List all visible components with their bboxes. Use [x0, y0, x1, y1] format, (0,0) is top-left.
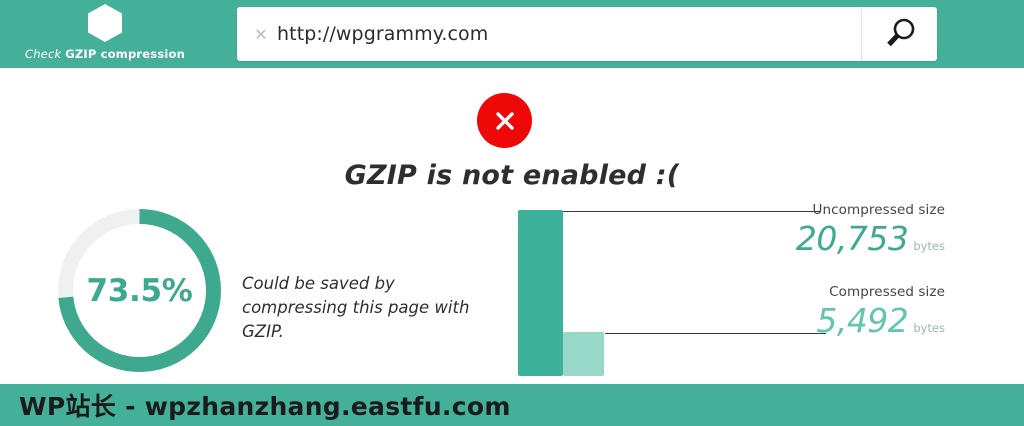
brand-logo[interactable]: Check GZIP compression: [0, 4, 210, 61]
stat-compressed-title: Compressed size: [640, 284, 945, 300]
stat-compressed-unit: bytes: [913, 321, 945, 335]
bar-uncompressed: [518, 210, 563, 376]
clear-x-icon[interactable]: ✕: [237, 7, 271, 61]
brand-tagline-main: GZIP compression: [65, 47, 185, 61]
watermark-text: WP站长 - wpzhanzhang.eastfu.com: [19, 387, 511, 423]
url-input[interactable]: [271, 7, 861, 61]
brand-tagline-prefix: Check: [25, 47, 65, 61]
stat-compressed: Compressed size 5,492 bytes: [640, 284, 945, 340]
magnifier-icon: [882, 16, 918, 52]
hexagon-icon: [88, 4, 122, 42]
search-button[interactable]: [861, 7, 937, 61]
url-search-bar: ✕: [237, 7, 937, 61]
watermark-bar: WP站长 - wpzhanzhang.eastfu.com: [0, 384, 1024, 426]
brand-tagline: Check GZIP compression: [25, 47, 185, 61]
stat-compressed-value: 5,492: [816, 301, 908, 340]
stat-uncompressed-unit: bytes: [913, 239, 945, 253]
page-title: GZIP is not enabled :(: [0, 160, 1024, 191]
stat-uncompressed: Uncompressed size 20,753 bytes: [640, 202, 945, 258]
x-mark-icon: [490, 106, 520, 136]
bar-compressed: [563, 332, 604, 376]
stat-uncompressed-title: Uncompressed size: [640, 202, 945, 218]
error-x-circle-icon: [477, 93, 532, 148]
stat-uncompressed-value: 20,753: [796, 219, 908, 258]
savings-description: Could be saved by compressing this page …: [242, 272, 482, 344]
gzip-checker-page: Check GZIP compression ✕ GZIP is not ena…: [0, 0, 1024, 426]
donut-percent-label: 73.5%: [53, 204, 226, 377]
app-header: Check GZIP compression ✕: [0, 0, 1024, 68]
